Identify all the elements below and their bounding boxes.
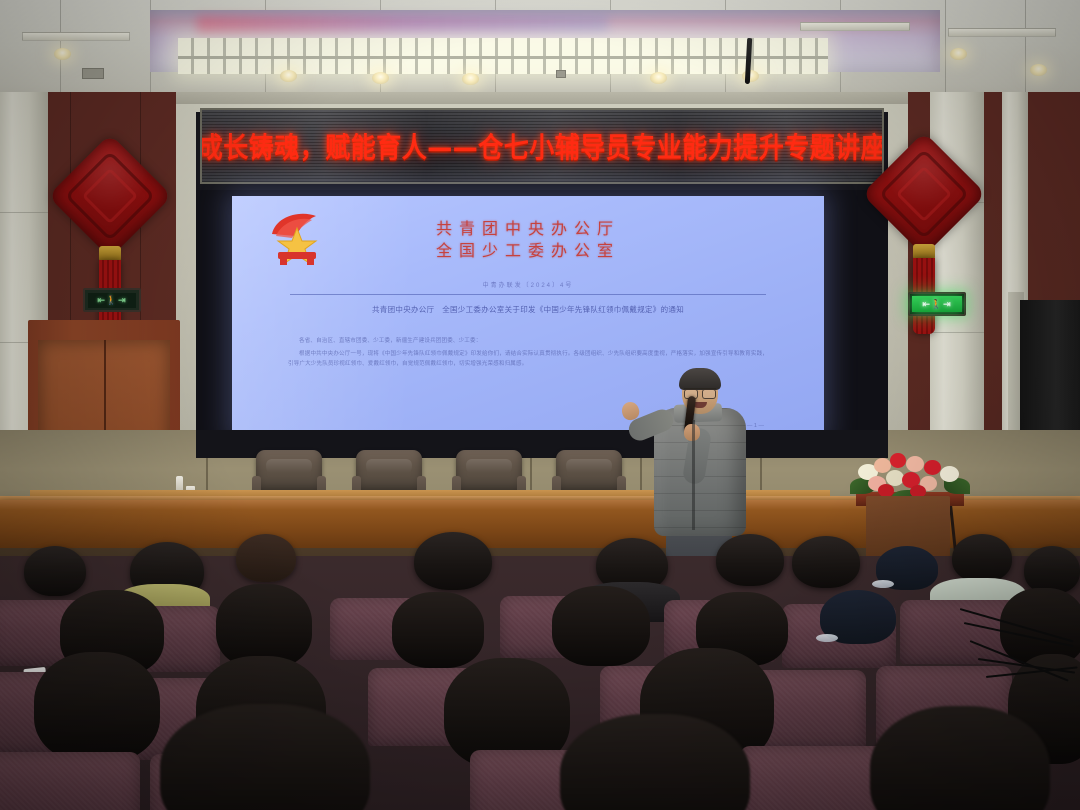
- audience-seating-area: [0, 556, 1080, 810]
- audience-cap: [820, 590, 896, 644]
- ceiling-slot-right: [948, 28, 1056, 37]
- led-banner: 成长铸魂，赋能育人——仓七小辅导员专业能力提升专题讲座: [200, 108, 884, 184]
- slide-doc-title: 共青团中央办公厅 全国少工委办公室关于印发《中国少年先锋队红领巾佩戴规定》的通知: [288, 304, 768, 316]
- audience-head: [870, 706, 1050, 810]
- audience-head: [952, 534, 1012, 582]
- exit-sign-left: ⇤🚶⇥: [83, 288, 141, 312]
- speaker-jacket-zipper: [692, 420, 695, 530]
- slide-issuer-line-2: 全国少工委办公室: [232, 240, 824, 262]
- slide-issuer-line-1: 共青团中央办公厅: [232, 218, 824, 240]
- audience-head: [414, 532, 492, 590]
- downlight-8: [1030, 64, 1047, 76]
- audience-head: [392, 592, 484, 668]
- audience-head: [792, 536, 860, 588]
- slide-doc-number: 中青办联发〔2024〕4号: [232, 280, 824, 289]
- slide-body-paragraph-2: 根据中共中央办公厅一号，现将《中国少年先锋队红领巾佩戴规定》印发给你们，请结合实…: [288, 349, 768, 369]
- downlight-5: [650, 72, 667, 84]
- speaker-hair: [679, 368, 721, 390]
- ceiling-light-grid: [178, 38, 828, 74]
- audience-head: [560, 714, 750, 810]
- slide-doc-body: 各省、自治区、直辖市团委、少工委，新疆生产建设兵团团委、少工委： 根据中共中央办…: [288, 336, 768, 372]
- slide-body-paragraph-1: 各省、自治区、直辖市团委、少工委，新疆生产建设兵团团委、少工委：: [288, 336, 768, 346]
- floor-cables: [960, 600, 1080, 710]
- led-banner-text: 成长铸魂，赋能育人——仓七小辅导员专业能力提升专题讲座: [200, 126, 884, 166]
- audience-head: [160, 704, 370, 810]
- audience-head: [24, 546, 86, 596]
- audience-seat[interactable]: [0, 752, 140, 810]
- auditorium-scene: 成长铸魂，赋能育人——仓七小辅导员专业能力提升专题讲座 共青团中央办公厅 全国少…: [0, 0, 1080, 810]
- slide-divider-rule: [290, 294, 766, 295]
- downlight-1: [54, 48, 71, 60]
- downlight-7: [950, 48, 967, 60]
- chinese-knot-left: [62, 142, 158, 342]
- exit-icon-left: ⇤🚶⇥: [97, 295, 126, 306]
- exit-sign-right: ⇤🚶⇥: [908, 292, 966, 316]
- exit-icon-right: ⇤🚶⇥: [922, 299, 951, 310]
- audience-head: [552, 586, 650, 666]
- ceiling-slot-left: [22, 32, 130, 41]
- downlight-3: [372, 72, 389, 84]
- slide-issuer: 共青团中央办公厅 全国少工委办公室: [232, 218, 824, 262]
- ceiling-vent: [82, 68, 104, 79]
- audience-head: [716, 534, 784, 586]
- ceiling-slot-mid: [800, 22, 910, 31]
- audience-head: [236, 534, 296, 582]
- audience-cap: [876, 546, 938, 590]
- ceiling-sensor: [556, 70, 566, 78]
- downlight-2: [280, 70, 297, 82]
- audience-head: [34, 652, 160, 762]
- audience-head: [1024, 546, 1080, 594]
- speaker-glasses: [684, 388, 716, 396]
- downlight-4: [462, 73, 479, 85]
